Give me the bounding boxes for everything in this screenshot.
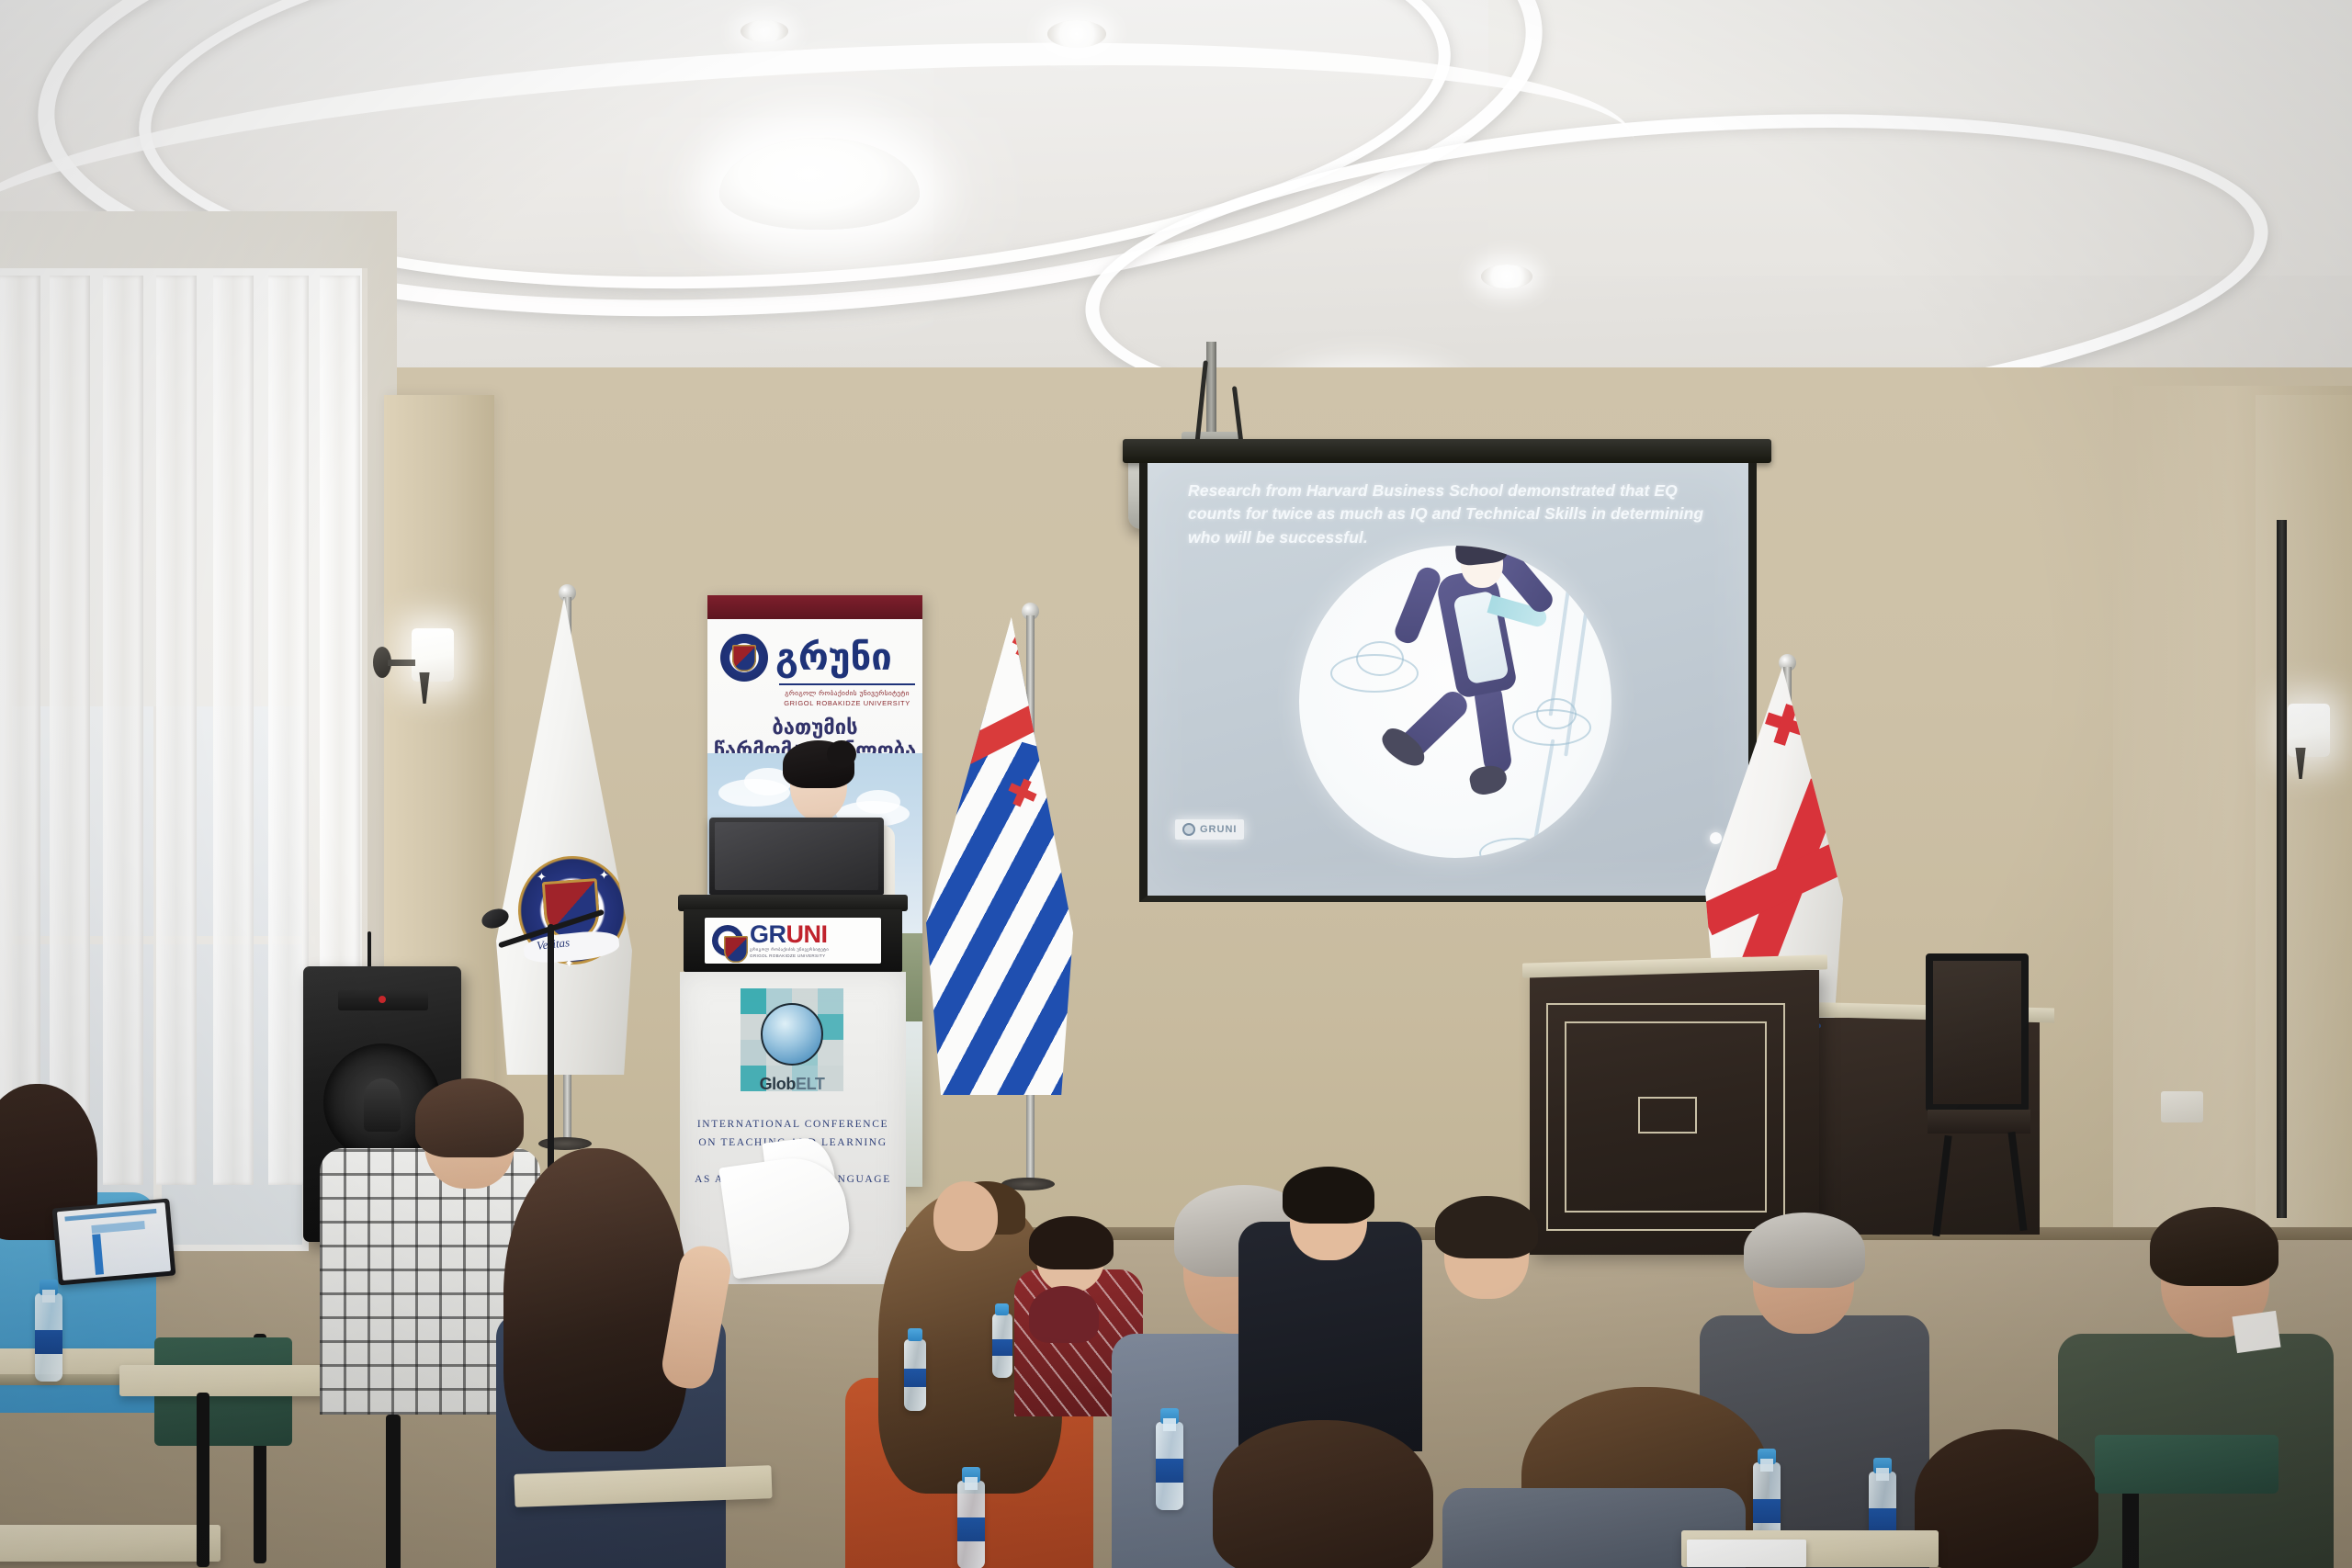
bottle-neck bbox=[42, 1290, 55, 1303]
recessed-downlight-icon bbox=[1481, 265, 1532, 288]
globe-icon bbox=[761, 1003, 823, 1066]
bottle-neck bbox=[965, 1477, 978, 1490]
figure-arm bbox=[1392, 564, 1443, 646]
slide-body-text: Research from Harvard Business School de… bbox=[1188, 479, 1728, 549]
projection-screen-surface: Research from Harvard Business School de… bbox=[1139, 463, 1757, 902]
notebook bbox=[1687, 1540, 1806, 1567]
sheer-curtain bbox=[103, 276, 143, 1185]
podium-university-georgian: გრიგოლ რობაქიძის უნივერსიტეტი bbox=[750, 947, 829, 953]
screen-chart-bar bbox=[91, 1221, 145, 1234]
bottle-neck bbox=[1760, 1459, 1773, 1472]
bottle-label bbox=[35, 1330, 62, 1354]
chair-seat bbox=[2095, 1435, 2278, 1494]
attendee-headscarf bbox=[1029, 1286, 1099, 1343]
water-bottle[interactable] bbox=[957, 1481, 985, 1568]
banner-university-block: გრიგოლ რობაქიძის უნივერსიტეტი GRIGOL ROB… bbox=[779, 683, 915, 707]
sheer-curtain bbox=[50, 276, 90, 1185]
lectern-panel-frame bbox=[1638, 1097, 1697, 1134]
right-wall-return bbox=[2256, 395, 2352, 1295]
sconce-shade bbox=[2288, 704, 2330, 757]
sconce-mounting-pole bbox=[2277, 520, 2287, 1218]
projection-screen: Research from Harvard Business School de… bbox=[1123, 439, 1771, 941]
globelt-wordmark: GlobELT bbox=[741, 1075, 843, 1094]
speed-line bbox=[1532, 739, 1555, 849]
banner-university-english: GRIGOL ROBAKIDZE UNIVERSITY bbox=[779, 699, 915, 707]
podium-brand-first: GR bbox=[750, 922, 786, 947]
rear-lectern bbox=[1530, 970, 1819, 1255]
university-crest-icon bbox=[720, 634, 768, 682]
cloud-icon bbox=[856, 790, 900, 814]
podium-brand-second: UNI bbox=[786, 922, 828, 947]
slide-illustration bbox=[1299, 546, 1611, 858]
attendee-hair bbox=[1029, 1216, 1114, 1269]
bottle-neck bbox=[1163, 1418, 1176, 1431]
water-bottle[interactable] bbox=[904, 1339, 926, 1411]
cloud-icon bbox=[1479, 838, 1553, 858]
attendee-hair bbox=[1213, 1420, 1433, 1568]
bottle-label bbox=[1156, 1459, 1183, 1483]
figure-leg bbox=[1473, 682, 1512, 774]
tablet-arm-desk bbox=[0, 1525, 220, 1562]
presenter-laptop[interactable] bbox=[709, 818, 884, 895]
screen-chart-bar bbox=[92, 1234, 104, 1275]
logo-tile bbox=[741, 988, 766, 1014]
sheer-curtain bbox=[156, 276, 197, 1185]
wall-sconce-left bbox=[412, 628, 454, 682]
wall-outlet bbox=[2161, 1091, 2203, 1122]
projector-mount-rod bbox=[1206, 342, 1216, 432]
sheer-curtain bbox=[213, 276, 254, 1185]
power-led-icon bbox=[379, 996, 386, 1003]
globelt-glob: Glob bbox=[760, 1075, 796, 1093]
star-icon: ✦ bbox=[537, 871, 547, 883]
attendee-hair bbox=[1915, 1429, 2098, 1568]
chair-frame bbox=[197, 1393, 209, 1567]
slide-watermark-logo: GRUNI bbox=[1175, 819, 1244, 840]
conference-line-1: INTERNATIONAL CONFERENCE bbox=[680, 1115, 906, 1134]
gruni-emblem-icon bbox=[1182, 823, 1195, 836]
sheer-curtain bbox=[0, 276, 40, 1185]
bottle-label bbox=[1753, 1499, 1781, 1523]
bottle-label bbox=[1869, 1508, 1896, 1532]
banner-university-georgian: გრიგოლ რობაქიძის უნივერსიტეტი bbox=[779, 689, 915, 697]
projection-screen-housing bbox=[1123, 439, 1771, 463]
logo-tile bbox=[818, 988, 843, 1014]
attendee-hair bbox=[1283, 1167, 1374, 1224]
banner-brand-georgian: გრუნი bbox=[775, 639, 892, 676]
chair-seat bbox=[1928, 1110, 2030, 1134]
water-bottle[interactable] bbox=[992, 1314, 1012, 1378]
bottle-neck bbox=[1876, 1468, 1889, 1481]
attendee-hair bbox=[415, 1078, 524, 1157]
banner-top-band bbox=[707, 595, 922, 619]
water-bottle[interactable] bbox=[35, 1293, 62, 1382]
presenter-hair-bun bbox=[827, 740, 856, 768]
recessed-downlight-icon bbox=[741, 20, 788, 42]
laptop-screen bbox=[57, 1202, 171, 1280]
podium-front-panel: GR UNI გრიგოლ რობაქიძის უნივერსიტეტი GRI… bbox=[684, 909, 902, 972]
speaker-antenna bbox=[367, 931, 371, 970]
university-crest-icon bbox=[712, 925, 743, 956]
attendee-laptop[interactable] bbox=[52, 1199, 176, 1286]
slide-page-indicator-dot bbox=[1710, 832, 1722, 844]
bottle-label bbox=[992, 1339, 1012, 1356]
shirt-collar bbox=[2232, 1311, 2280, 1353]
sconce-arm bbox=[388, 660, 415, 666]
recessed-downlight-icon bbox=[1047, 20, 1106, 48]
cloud-icon bbox=[1356, 641, 1404, 676]
divider bbox=[779, 683, 915, 685]
bottle-cap bbox=[995, 1303, 1009, 1315]
attendee-hair bbox=[1435, 1196, 1538, 1258]
bottle-cap bbox=[908, 1328, 922, 1341]
water-bottle[interactable] bbox=[1156, 1422, 1183, 1510]
bottle-label bbox=[957, 1517, 985, 1541]
attendee-hair bbox=[1744, 1213, 1865, 1288]
conference-hall-photo: Research from Harvard Business School de… bbox=[0, 0, 2352, 1568]
screen-toolbar bbox=[64, 1209, 156, 1222]
attendee-head bbox=[933, 1181, 998, 1251]
attendee-hair bbox=[503, 1148, 687, 1451]
bottle-label bbox=[904, 1369, 926, 1387]
attendee-hair bbox=[2150, 1207, 2278, 1286]
globelt-elt: ELT bbox=[796, 1075, 824, 1093]
chair-frame bbox=[386, 1415, 401, 1568]
sconce-shade bbox=[412, 628, 454, 682]
chair-backrest bbox=[1926, 953, 2029, 1111]
star-icon: ✦ bbox=[599, 869, 609, 881]
wall-sconce-right bbox=[2288, 704, 2330, 757]
podium-university-english: GRIGOL ROBAKIDZE UNIVERSITY bbox=[750, 953, 829, 959]
slide-watermark-label: GRUNI bbox=[1200, 824, 1237, 835]
banner-logo: გრუნი bbox=[720, 634, 892, 682]
podium-gruni-sign: GR UNI გრიგოლ რობაქიძის უნივერსიტეტი GRI… bbox=[705, 918, 881, 964]
